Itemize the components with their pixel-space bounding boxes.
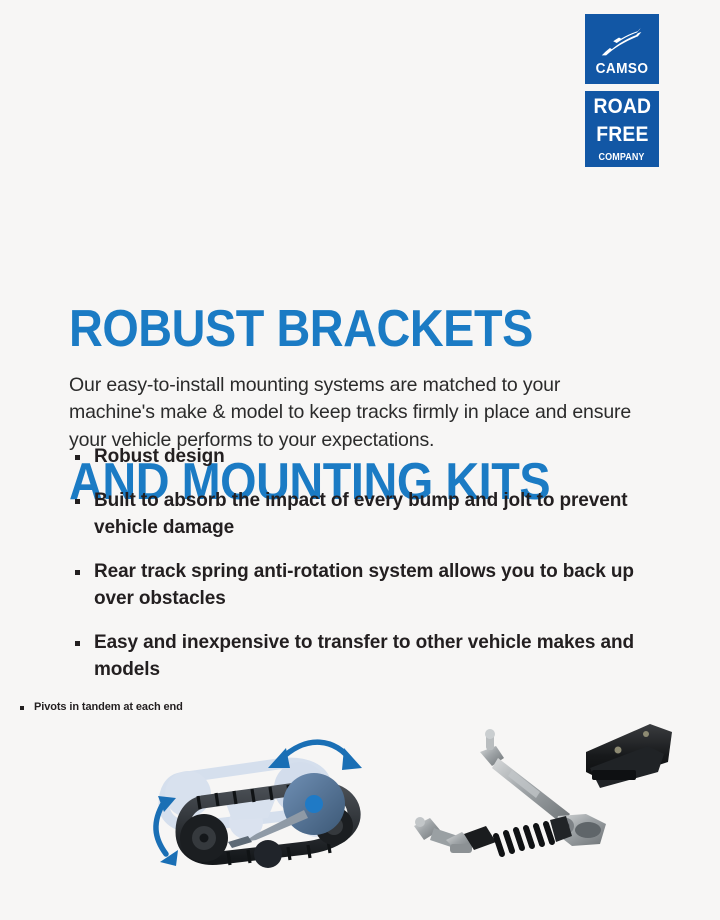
list-item-label: Robust design: [94, 446, 225, 467]
square-bullet-icon: [75, 641, 80, 646]
rubber-track-system-pivot-diagram: [128, 726, 386, 876]
feature-list: Robust design Built to absorb the impact…: [69, 444, 649, 684]
square-bullet-icon: [75, 455, 80, 460]
road-free-line-1: ROAD: [593, 97, 651, 117]
mounting-bracket-hardware-photo: [400, 718, 700, 883]
square-bullet-icon: [20, 706, 24, 710]
list-item: Robust design: [69, 444, 649, 471]
list-item: Rear track spring anti-rotation system a…: [69, 559, 649, 613]
figure-zone: [0, 718, 720, 893]
road-free-line-3: COMPANY: [599, 153, 645, 162]
camso-mountain-mark-icon: [600, 28, 644, 58]
hub-center: [305, 795, 323, 813]
road-free-line-2: FREE: [596, 125, 648, 145]
coil-spring: [496, 824, 552, 854]
intro-paragraph: Our easy-to-install mounting systems are…: [69, 372, 634, 455]
anti-rotation-spring-link: [414, 816, 572, 854]
black-mounting-bracket: [586, 724, 672, 788]
brand-logo-stack: CAMSO ROAD FREE COMPANY: [585, 14, 659, 167]
square-bullet-icon: [75, 570, 80, 575]
list-item-label: Built to absorb the impact of every bump…: [94, 490, 627, 538]
figure-caption-label: Pivots in tandem at each end: [34, 701, 183, 713]
bogie-wheel: [254, 840, 282, 868]
square-bullet-icon: [75, 499, 80, 504]
tie-rod-bracket-arm: [480, 729, 606, 846]
list-item: Built to absorb the impact of every bump…: [69, 488, 649, 542]
page-title-line-1: ROBUST BRACKETS: [69, 304, 550, 355]
camso-logo-badge: CAMSO: [585, 14, 659, 84]
road-free-company-badge: ROAD FREE COMPANY: [585, 91, 659, 167]
figure-caption: Pivots in tandem at each end: [20, 701, 183, 713]
camso-wordmark: CAMSO: [596, 62, 649, 77]
list-item-label: Rear track spring anti-rotation system a…: [94, 561, 634, 609]
list-item: Easy and inexpensive to transfer to othe…: [69, 630, 649, 684]
list-item-label: Easy and inexpensive to transfer to othe…: [94, 632, 634, 680]
